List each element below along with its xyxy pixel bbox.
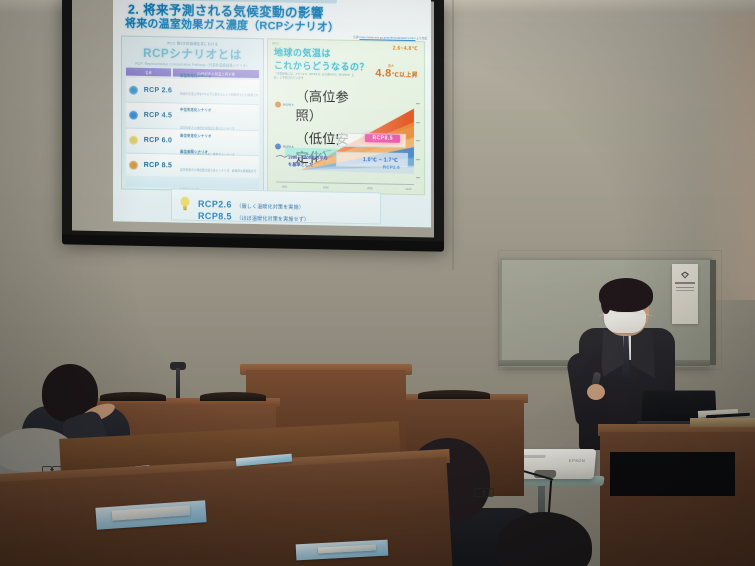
seat-back xyxy=(418,390,490,399)
rcp-scenario-panel: IPCC 第5次評価報告書における RCPシナリオとは RCP: Represe… xyxy=(121,35,264,192)
lightbulb-icon xyxy=(179,196,191,212)
max-unit: ℃以上昇 xyxy=(392,73,418,80)
rcp-panel-footer xyxy=(126,176,259,190)
x-tick-label: 1950 xyxy=(281,186,287,189)
glasses-icon xyxy=(474,488,494,495)
chart-max-value: 4.8℃以上昇 xyxy=(375,67,418,80)
projector-brand: EPSON xyxy=(569,458,586,463)
projected-slide: 2. 将来予測される気候変動の影響 将来の温室効果ガス濃度（RCPシナリオ） 出… xyxy=(113,0,431,227)
seat-back xyxy=(200,392,266,401)
rcp-row-name: RCP 6.0 xyxy=(138,137,178,145)
rcp-table-body: RCP 2.6 低位安定化シナリオ 将来の気温上昇を2℃以下に抑えるという目標の… xyxy=(126,78,259,178)
chart-y-axis xyxy=(414,100,422,184)
rcp-row-name: RCP 4.5 xyxy=(138,112,178,120)
x-tick-label: 2050 xyxy=(367,187,373,190)
baseline-line-2: を基準とした xyxy=(288,161,313,166)
rcp-dot-icon xyxy=(129,136,138,145)
rcp-desc-main: 中位安定化シナリオ xyxy=(180,108,211,113)
x-tick-label: 2100 xyxy=(406,188,412,191)
chart-heading-2: これからどうなるの？ xyxy=(274,58,369,73)
lecture-hall-photo: 2. 将来予測される気候変動の影響 将来の温室効果ガス濃度（RCPシナリオ） 出… xyxy=(0,0,755,566)
list-item xyxy=(486,512,616,566)
rcp-row-name: RCP 2.6 xyxy=(138,86,178,94)
side-desk xyxy=(690,418,755,427)
desk-lamp-stem xyxy=(176,368,180,402)
chart-note: 「今世紀末には、1℃～2℃（RCP2.6）から約4.8℃（RCP8.5）上昇」と… xyxy=(274,72,358,82)
presenter-hand xyxy=(587,384,605,400)
org-emblem-icon xyxy=(681,271,690,279)
callout-text-2: （ほぼ温暖化対策を実施せず） xyxy=(236,216,309,223)
rcp26-tag-label: RCP2.6 xyxy=(383,164,400,169)
attendee-head xyxy=(496,512,592,566)
rcp-dot-icon xyxy=(129,85,138,94)
callout-line-2: RCP8.5 （ほぼ温暖化対策を実施せず） xyxy=(198,206,309,226)
podium-front-panel xyxy=(610,452,735,496)
presenter-hair xyxy=(599,278,653,312)
source-tail: より作成 xyxy=(416,37,427,40)
status-badge: RCP8.5 xyxy=(365,134,400,143)
projection-screen: 2. 将来予測される気候変動の影響 将来の温室効果ガス濃度（RCPシナリオ） 出… xyxy=(62,0,444,248)
max-number: 4.8 xyxy=(375,67,391,79)
wall-seam xyxy=(452,0,454,270)
slide-callout: RCP2.6 （厳しく温暖化対策を実施） RCP8.5 （ほぼ温暖化対策を実施せ… xyxy=(171,188,381,224)
rcp-desc-main: 高位参照シナリオ xyxy=(180,149,208,154)
screen-surface: 2. 将来予測される気候変動の影響 将来の温室効果ガス濃度（RCPシナリオ） 出… xyxy=(72,0,434,237)
wall-warm-light xyxy=(695,0,755,300)
x-tick-label: 2000 xyxy=(323,186,329,189)
baseline-line-1: 1986～2005年の平均 xyxy=(288,155,328,161)
chart-heading-1: 地球の気温は xyxy=(274,45,331,59)
callout-key-2: RCP8.5 xyxy=(198,211,232,222)
baseline-note: 1986～2005年の平均 を基準とした xyxy=(288,155,328,168)
rcp-dot-icon xyxy=(129,110,138,119)
temperature-projection-panel: IPCC 地球の気温は これからどうなるの？ 「今世紀末には、1℃～2℃（RCP… xyxy=(267,38,425,195)
whiteboard-right-edge xyxy=(710,260,716,365)
rcp-desc-main: 高位安定化シナリオ xyxy=(180,133,211,138)
rcp26-range-label: 1.0℃ ~ 1.7℃ xyxy=(363,157,398,164)
rcp-dot-icon xyxy=(129,161,138,170)
chart-range-top: 2.6~4.8℃ xyxy=(393,46,418,52)
source-label: 出典 xyxy=(353,36,358,39)
chart-plot-area: 1986～2005年の平均 を基準とした RCP8.5 1.0℃ ~ 1.7℃ … xyxy=(276,97,414,184)
rcp-col-name: 名称 xyxy=(126,68,171,77)
rcp-row-name: RCP 8.5 xyxy=(138,162,178,170)
rcp-desc-main: 低位安定化シナリオ xyxy=(180,74,211,79)
